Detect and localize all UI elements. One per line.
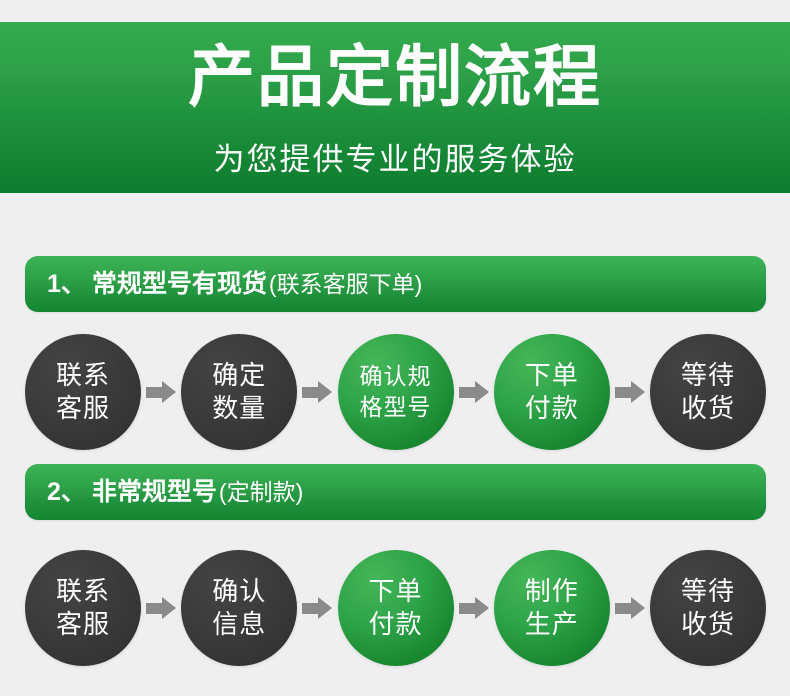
flow-step-2-5-line-1: 等待 bbox=[681, 575, 735, 608]
header-banner: 产品定制流程 为您提供专业的服务体验 bbox=[0, 22, 790, 193]
arrow-head bbox=[631, 597, 645, 619]
flow-step-2-1-line-1: 联系 bbox=[56, 575, 110, 608]
flow-step-2-3[interactable]: 下单 付款 bbox=[338, 550, 454, 666]
section-2-note: (定制款) bbox=[219, 478, 303, 506]
arrow-right-icon bbox=[459, 597, 489, 619]
arrow-right-icon bbox=[146, 381, 176, 403]
arrow-head bbox=[318, 597, 332, 619]
flow-step-1-4-line-2: 付款 bbox=[525, 392, 579, 425]
arrow-head bbox=[475, 381, 489, 403]
section-2-index: 2、 bbox=[47, 478, 86, 506]
flow-step-2-2-line-1: 确认 bbox=[212, 575, 266, 608]
arrow-right-icon bbox=[615, 597, 645, 619]
flow-step-1-2-line-2: 数量 bbox=[212, 392, 266, 425]
page-title: 产品定制流程 bbox=[0, 39, 790, 117]
arrow-head bbox=[162, 597, 176, 619]
flow-row-1: 联系 客服 确定 数量 确认规 格型号 下单 付款 bbox=[25, 332, 766, 452]
arrow-head bbox=[631, 381, 645, 403]
flow-step-2-4-line-1: 制作 bbox=[525, 575, 579, 608]
flow-step-1-3-line-2: 格型号 bbox=[360, 392, 432, 423]
flow-step-2-3-line-2: 付款 bbox=[368, 608, 422, 641]
flow-step-2-3-line-1: 下单 bbox=[368, 575, 422, 608]
flow-step-1-3[interactable]: 确认规 格型号 bbox=[338, 334, 454, 450]
flow-step-1-5[interactable]: 等待 收货 bbox=[650, 334, 766, 450]
flow-step-1-4-line-1: 下单 bbox=[525, 359, 579, 392]
flow-step-1-2[interactable]: 确定 数量 bbox=[181, 334, 297, 450]
flow-step-1-2-line-1: 确定 bbox=[212, 359, 266, 392]
arrow-right-icon bbox=[146, 597, 176, 619]
flow-step-1-4[interactable]: 下单 付款 bbox=[494, 334, 610, 450]
section-header-2: 2、 非常规型号 (定制款) bbox=[25, 464, 766, 520]
arrow-right-icon bbox=[459, 381, 489, 403]
flow-step-2-1[interactable]: 联系 客服 bbox=[25, 550, 141, 666]
flow-step-1-1[interactable]: 联系 客服 bbox=[25, 334, 141, 450]
flow-step-2-2[interactable]: 确认 信息 bbox=[181, 550, 297, 666]
page-subtitle: 为您提供专业的服务体验 bbox=[0, 140, 790, 180]
product-customization-flow-page: 产品定制流程 为您提供专业的服务体验 1、 常规型号有现货 (联系客服下单) 联… bbox=[0, 0, 790, 696]
flow-step-1-5-line-2: 收货 bbox=[681, 392, 735, 425]
arrow-head bbox=[318, 381, 332, 403]
section-header-1: 1、 常规型号有现货 (联系客服下单) bbox=[25, 256, 766, 312]
section-1-title: 常规型号有现货 bbox=[92, 270, 267, 298]
section-1-note: (联系客服下单) bbox=[269, 270, 422, 298]
arrow-right-icon bbox=[302, 381, 332, 403]
flow-step-2-5-line-2: 收货 bbox=[681, 608, 735, 641]
flow-step-1-3-line-1: 确认规 bbox=[360, 361, 432, 392]
flow-step-2-4-line-2: 生产 bbox=[525, 608, 579, 641]
arrow-head bbox=[162, 381, 176, 403]
flow-step-1-5-line-1: 等待 bbox=[681, 359, 735, 392]
section-1-index: 1、 bbox=[47, 270, 86, 298]
flow-step-1-1-line-2: 客服 bbox=[56, 392, 110, 425]
flow-row-2: 联系 客服 确认 信息 下单 付款 制作 生产 bbox=[25, 548, 766, 668]
flow-step-2-5[interactable]: 等待 收货 bbox=[650, 550, 766, 666]
arrow-head bbox=[475, 597, 489, 619]
flow-step-2-1-line-2: 客服 bbox=[56, 608, 110, 641]
flow-step-2-2-line-2: 信息 bbox=[212, 608, 266, 641]
flow-step-2-4[interactable]: 制作 生产 bbox=[494, 550, 610, 666]
flow-step-1-1-line-1: 联系 bbox=[56, 359, 110, 392]
section-2-title: 非常规型号 bbox=[92, 478, 217, 506]
arrow-right-icon bbox=[302, 597, 332, 619]
arrow-right-icon bbox=[615, 381, 645, 403]
